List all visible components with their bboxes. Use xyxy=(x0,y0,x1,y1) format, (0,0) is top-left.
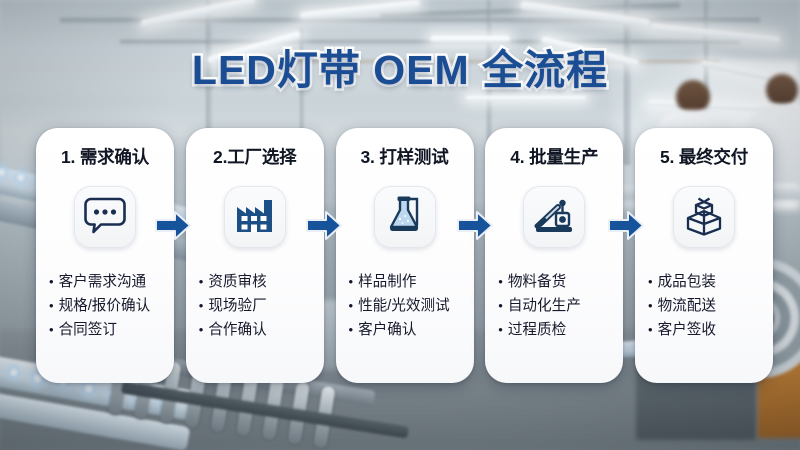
bullet-marker: • xyxy=(349,299,354,312)
bullet-marker: • xyxy=(199,275,204,288)
bullet-text: 样品制作 xyxy=(358,270,416,294)
list-item: • 规格/报价确认 xyxy=(49,294,174,318)
step-card-5[interactable]: 5. 最终交付 • 成品包装 xyxy=(635,128,773,383)
bullet-text: 自动化生产 xyxy=(508,294,581,318)
step-card-4[interactable]: 4. 批量生产 • xyxy=(485,128,623,383)
step-icon-tile xyxy=(523,186,585,248)
list-item: • 合同签订 xyxy=(49,318,174,342)
list-item: • 性能/光效测试 xyxy=(349,294,474,318)
step-bullet-list: • 样品制作 • 性能/光效测试 • 客户确认 xyxy=(336,270,474,343)
bullet-text: 过程质检 xyxy=(508,318,566,342)
bullet-text: 合作确认 xyxy=(208,318,266,342)
bullet-marker: • xyxy=(498,299,503,312)
list-item: • 客户需求沟通 xyxy=(49,270,174,294)
step-bullet-list: • 资质审核 • 现场验厂 • 合作确认 xyxy=(186,270,324,343)
step-icon-tile xyxy=(74,186,136,248)
bullet-marker: • xyxy=(498,323,503,336)
chat-bubble-icon xyxy=(84,195,126,240)
flask-icon xyxy=(384,194,426,241)
step-icon-tile xyxy=(374,186,436,248)
step-card-3[interactable]: 3. 打样测试 • xyxy=(336,128,474,383)
infographic-canvas: LED灯带 OEM 全流程 1. 需求确认 xyxy=(0,0,800,450)
process-steps-row: 1. 需求确认 • 客户需求沟通 • 规 xyxy=(36,128,773,383)
bullet-text: 性能/光效测试 xyxy=(358,294,450,318)
bullet-text: 客户确认 xyxy=(358,318,416,342)
bullet-text: 资质审核 xyxy=(208,270,266,294)
list-item: • 客户确认 xyxy=(349,318,474,342)
bullet-marker: • xyxy=(498,275,503,288)
bullet-marker: • xyxy=(49,275,54,288)
step-title: 3. 打样测试 xyxy=(360,144,448,169)
package-box-icon xyxy=(683,194,725,241)
list-item: • 物料备货 xyxy=(498,270,623,294)
list-item: • 过程质检 xyxy=(498,318,623,342)
list-item: • 自动化生产 xyxy=(498,294,623,318)
list-item: • 物流配送 xyxy=(648,294,773,318)
step-title: 5. 最终交付 xyxy=(660,144,748,169)
bullet-marker: • xyxy=(648,275,653,288)
bullet-text: 成品包装 xyxy=(658,270,716,294)
step-icon-tile xyxy=(673,186,735,248)
page-title: LED灯带 OEM 全流程 xyxy=(0,36,800,96)
bullet-text: 现场验厂 xyxy=(208,294,266,318)
bullet-text: 客户签收 xyxy=(658,318,716,342)
bullet-text: 合同签订 xyxy=(59,318,117,342)
bullet-marker: • xyxy=(648,299,653,312)
list-item: • 样品制作 xyxy=(349,270,474,294)
bullet-marker: • xyxy=(648,323,653,336)
list-item: • 成品包装 xyxy=(648,270,773,294)
step-bullet-list: • 成品包装 • 物流配送 • 客户签收 xyxy=(635,270,773,343)
bullet-text: 规格/报价确认 xyxy=(59,294,151,318)
bullet-marker: • xyxy=(199,299,204,312)
arrow-step-4-to-5 xyxy=(608,210,644,241)
step-title: 2.工厂选择 xyxy=(213,144,296,169)
step-card-1[interactable]: 1. 需求确认 • 客户需求沟通 • 规 xyxy=(36,128,174,383)
arrow-step-1-to-2 xyxy=(155,210,191,241)
bullet-marker: • xyxy=(49,323,54,336)
bullet-text: 客户需求沟通 xyxy=(59,270,147,294)
bullet-text: 物料备货 xyxy=(508,270,566,294)
step-title: 1. 需求确认 xyxy=(61,144,149,169)
step-card-2[interactable]: 2.工厂选择 • 资质审核 xyxy=(186,128,324,383)
factory-icon xyxy=(234,196,276,239)
step-title: 4. 批量生产 xyxy=(510,144,598,169)
list-item: • 资质审核 xyxy=(199,270,324,294)
bullet-marker: • xyxy=(349,323,354,336)
robot-arm-icon xyxy=(532,195,576,240)
bullet-marker: • xyxy=(199,323,204,336)
list-item: • 客户签收 xyxy=(648,318,773,342)
step-bullet-list: • 客户需求沟通 • 规格/报价确认 • 合同签订 xyxy=(36,270,174,343)
arrow-step-3-to-4 xyxy=(457,210,493,241)
list-item: • 现场验厂 xyxy=(199,294,324,318)
bullet-marker: • xyxy=(49,299,54,312)
step-icon-tile xyxy=(224,186,286,248)
step-bullet-list: • 物料备货 • 自动化生产 • 过程质检 xyxy=(485,270,623,343)
arrow-step-2-to-3 xyxy=(306,210,342,241)
bullet-marker: • xyxy=(349,275,354,288)
list-item: • 合作确认 xyxy=(199,318,324,342)
bullet-text: 物流配送 xyxy=(658,294,716,318)
